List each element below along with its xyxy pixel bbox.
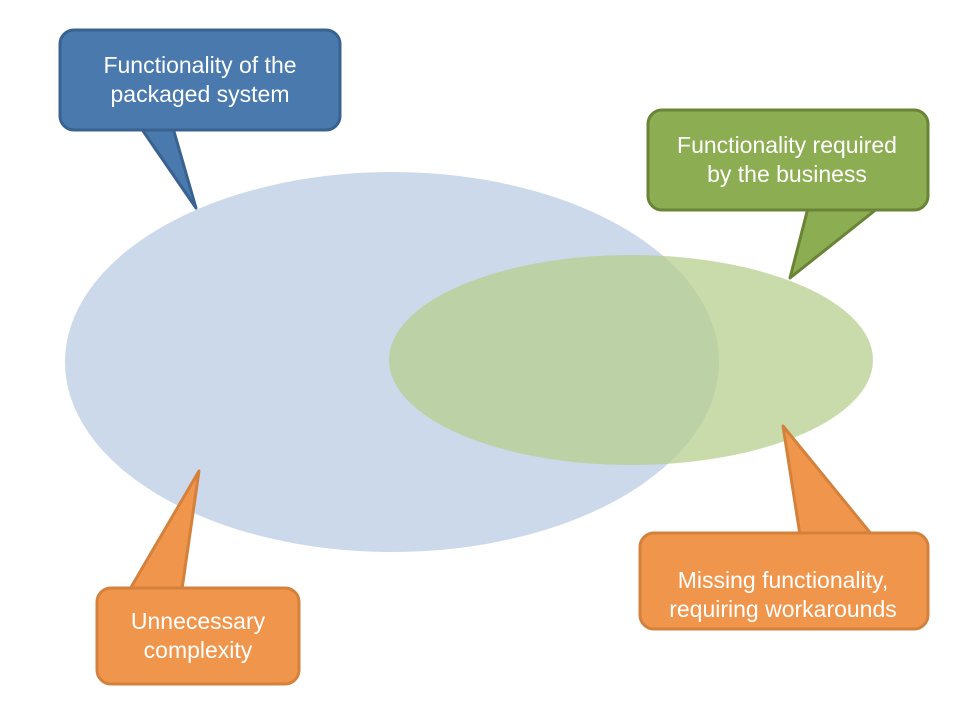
- venn-diagram-graphics: [0, 0, 960, 720]
- callout-business-requirement-body: [648, 110, 928, 210]
- ellipse-business-requirement: [389, 255, 873, 465]
- callout-business-requirement-tail: [790, 208, 878, 278]
- callout-packaged-system-body: [60, 30, 340, 130]
- callout-missing-functionality-body: [640, 533, 928, 629]
- callout-packaged-system-tail: [141, 128, 196, 208]
- callout-unnecessary-complexity-body: [97, 588, 299, 684]
- callout-business-requirement[interactable]: [648, 110, 928, 278]
- venn-diagram-canvas: Functionality of the packaged system Fun…: [0, 0, 960, 720]
- callout-missing-functionality-tail: [783, 426, 872, 535]
